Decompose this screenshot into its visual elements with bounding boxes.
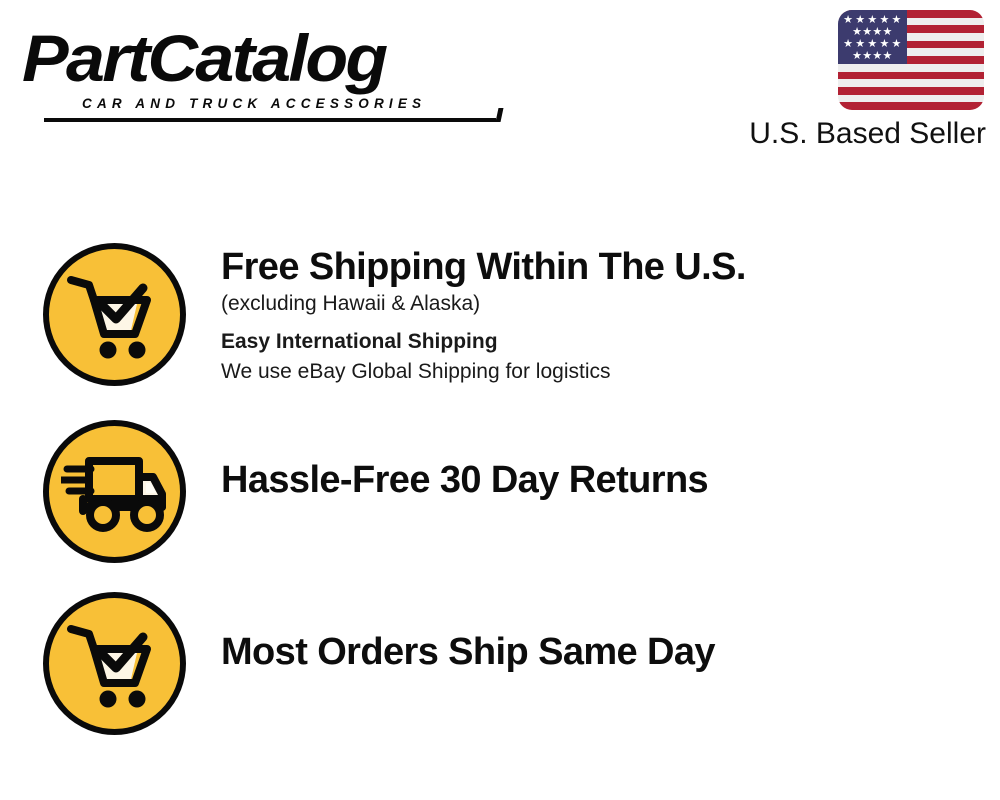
- flag-star-row: ★ ★ ★ ★ ★: [838, 14, 907, 26]
- flag-star: ★: [883, 27, 893, 38]
- flag-star: ★: [872, 27, 882, 38]
- flag-stripe: [838, 95, 984, 103]
- flag-star: ★: [879, 15, 889, 26]
- flag-stripe: [838, 79, 984, 87]
- page-header: PartCatalog CAR AND TRUCK ACCESSORIES ★ …: [0, 0, 1000, 170]
- brand-wordmark: PartCatalog: [22, 22, 385, 94]
- feature-returns: Hassle-Free 30 Day Returns: [0, 420, 1000, 563]
- flag-star: ★: [867, 39, 877, 50]
- feature-sub-detail: We use eBay Global Shipping for logistic…: [221, 357, 746, 387]
- flag-stripe: [838, 64, 984, 72]
- feature-sub-note: (excluding Hawaii & Alaska): [221, 289, 746, 319]
- brand-tagline: CAR AND TRUCK ACCESSORIES: [82, 96, 426, 111]
- flag-stripe: [838, 72, 984, 80]
- flag-star: ★: [883, 51, 893, 62]
- flag-star: ★: [855, 15, 865, 26]
- brand-swash-underline: [44, 118, 496, 122]
- feature-text-block: Most Orders Ship Same Day: [221, 592, 715, 674]
- feature-text-block: Hassle-Free 30 Day Returns: [221, 420, 708, 502]
- delivery-truck-icon: [43, 420, 186, 563]
- flag-star: ★: [879, 39, 889, 50]
- flag-star-row: ★ ★ ★ ★: [838, 50, 907, 62]
- flag-star: ★: [892, 15, 902, 26]
- feature-heading: Free Shipping Within The U.S.: [221, 245, 746, 289]
- brand-logo[interactable]: PartCatalog CAR AND TRUCK ACCESSORIES: [22, 22, 492, 114]
- flag-star: ★: [855, 39, 865, 50]
- flag-stripe: [838, 102, 984, 110]
- flag-star: ★: [862, 51, 872, 62]
- flag-star-row: ★ ★ ★ ★ ★: [838, 38, 907, 50]
- flag-star-row: ★ ★ ★ ★: [838, 26, 907, 38]
- flag-star: ★: [852, 27, 862, 38]
- flag-star: ★: [843, 39, 853, 50]
- shopping-cart-check-icon: [43, 592, 186, 735]
- flag-star: ★: [843, 15, 853, 26]
- us-based-seller-label: U.S. Based Seller: [749, 117, 986, 151]
- flag-star: ★: [852, 51, 862, 62]
- flag-star: ★: [867, 15, 877, 26]
- flag-star: ★: [892, 39, 902, 50]
- flag-canton: ★ ★ ★ ★ ★ ★ ★ ★ ★ ★ ★ ★ ★ ★ ★ ★: [838, 10, 907, 64]
- feature-heading: Hassle-Free 30 Day Returns: [221, 422, 708, 502]
- us-flag-icon: ★ ★ ★ ★ ★ ★ ★ ★ ★ ★ ★ ★ ★ ★ ★ ★: [838, 10, 984, 110]
- flag-star: ★: [872, 51, 882, 62]
- flag-star: ★: [862, 27, 872, 38]
- flag-stripe: [838, 87, 984, 95]
- feature-heading: Most Orders Ship Same Day: [221, 594, 715, 674]
- feature-free-shipping: Free Shipping Within The U.S. (excluding…: [0, 243, 1000, 387]
- feature-same-day-shipping: Most Orders Ship Same Day: [0, 592, 1000, 735]
- feature-text-block: Free Shipping Within The U.S. (excluding…: [221, 243, 746, 387]
- feature-sub-heading: Easy International Shipping: [221, 319, 746, 357]
- shopping-cart-check-icon: [43, 243, 186, 386]
